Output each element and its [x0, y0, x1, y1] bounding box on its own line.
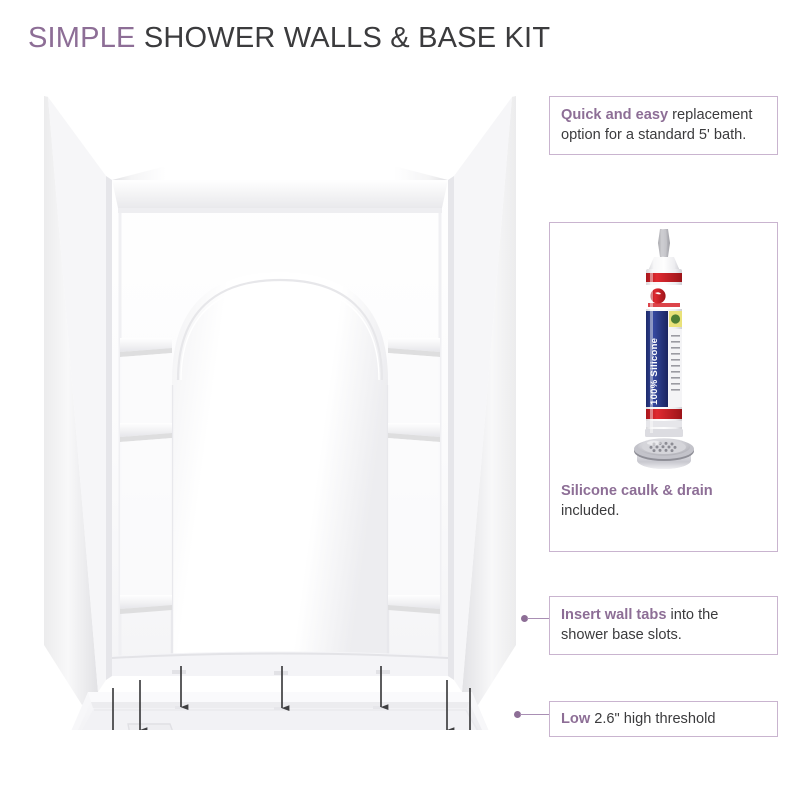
left-shelf-group — [120, 338, 172, 614]
leader-line — [527, 618, 550, 619]
included-accessories-art: 100% Silicone — [550, 223, 779, 479]
page-title-rest: SHOWER WALLS & BASE KIT — [136, 22, 551, 54]
callout-quick-bold: Quick and easy — [561, 107, 668, 123]
callout-included-accessories: 100% Silicone — [549, 222, 778, 552]
leader-low-threshold — [514, 711, 550, 718]
callout-kit-caption: Silicone caulk & drain included. — [561, 481, 771, 521]
leader-insert-wall-tabs — [521, 615, 549, 622]
callout-low-threshold: Low 2.6" high threshold — [549, 701, 778, 737]
back-wall-panel — [112, 180, 448, 676]
callout-kit-text: included. — [561, 503, 619, 519]
page-title-accent: SIMPLE — [28, 22, 136, 54]
callout-threshold-text: 2.6" high threshold — [590, 711, 715, 727]
drain-location-marker — [128, 724, 178, 730]
callout-insert-wall-tabs: Insert wall tabs into the shower base sl… — [549, 596, 778, 655]
right-shelf-group — [388, 338, 440, 614]
callout-kit-bold: Silicone caulk & drain — [561, 483, 713, 499]
leader-line — [520, 714, 550, 715]
shower-drain — [634, 438, 694, 469]
page-title: SIMPLE SHOWER WALLS & BASE KIT — [28, 22, 550, 55]
shower-base-pan — [58, 692, 502, 730]
callout-quick-and-easy: Quick and easy replacement option for a … — [549, 96, 778, 155]
silicone-caulk-tube: 100% Silicone — [645, 229, 683, 437]
shower-kit-illustration — [20, 80, 540, 730]
callout-insert-bold: Insert wall tabs — [561, 607, 666, 623]
callout-threshold-bold: Low — [561, 711, 590, 727]
